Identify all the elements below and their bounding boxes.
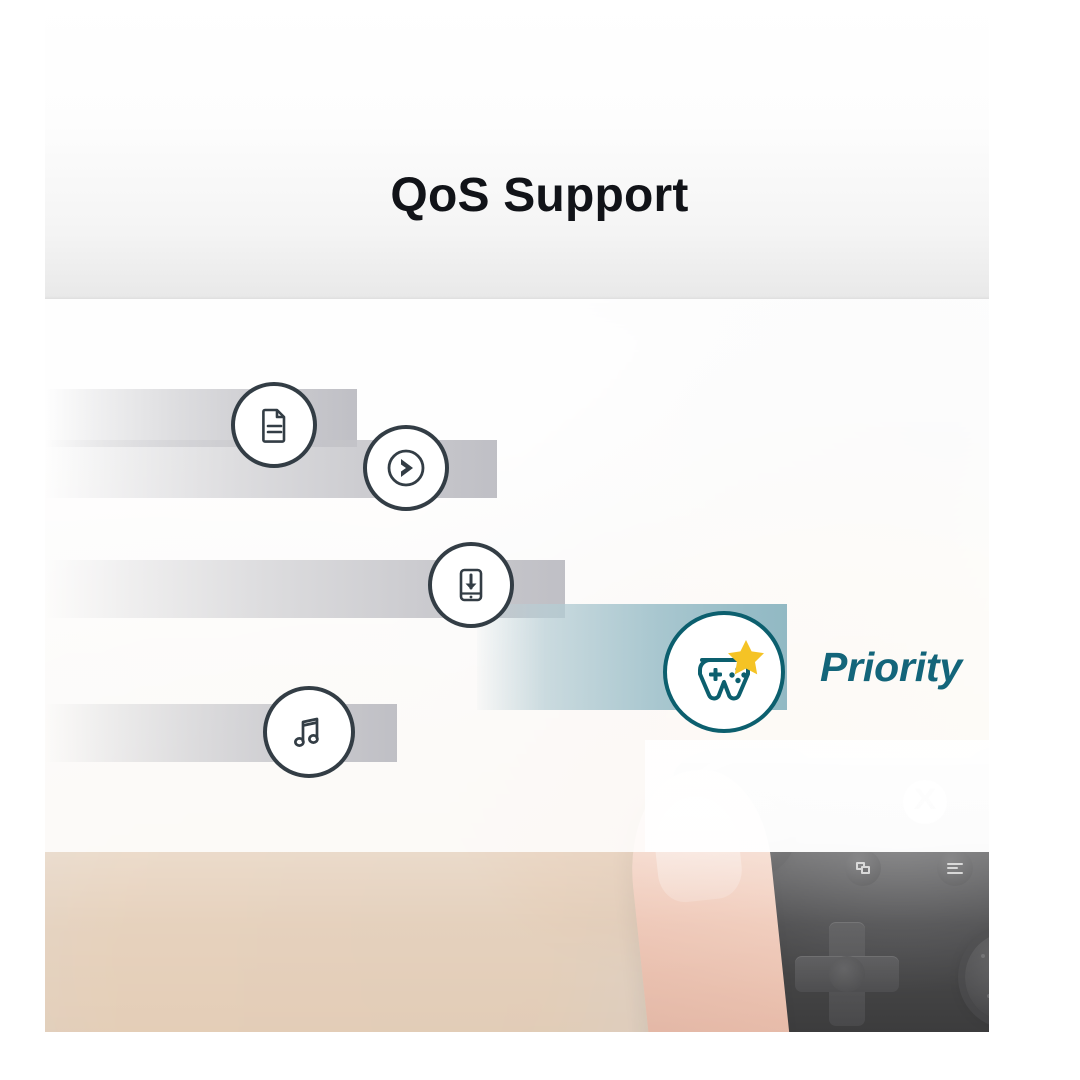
gamepad-star-icon <box>678 626 770 718</box>
document-icon <box>253 404 295 446</box>
video-play-icon <box>382 444 430 492</box>
music-note-icon-bubble[interactable] <box>263 686 355 778</box>
right-white-margin <box>989 0 1080 1080</box>
gamepad-star-icon-bubble[interactable] <box>663 611 785 733</box>
mobile-download-icon-bubble[interactable] <box>428 542 514 628</box>
qos-support-banner: X X <box>0 0 1080 1080</box>
music-note-icon <box>286 709 332 755</box>
page-title: QoS Support <box>45 168 1034 223</box>
mobile-download-icon <box>449 563 493 607</box>
left-white-margin <box>0 0 45 1080</box>
photo-plate: X X <box>45 0 1034 1032</box>
bottom-white-margin <box>0 1032 1080 1080</box>
bottom-white-veil <box>45 852 1034 1032</box>
document-icon-bubble[interactable] <box>231 382 317 468</box>
priority-label: Priority <box>820 644 962 691</box>
video-play-icon-bubble[interactable] <box>363 425 449 511</box>
top-white-veil <box>45 0 1034 299</box>
